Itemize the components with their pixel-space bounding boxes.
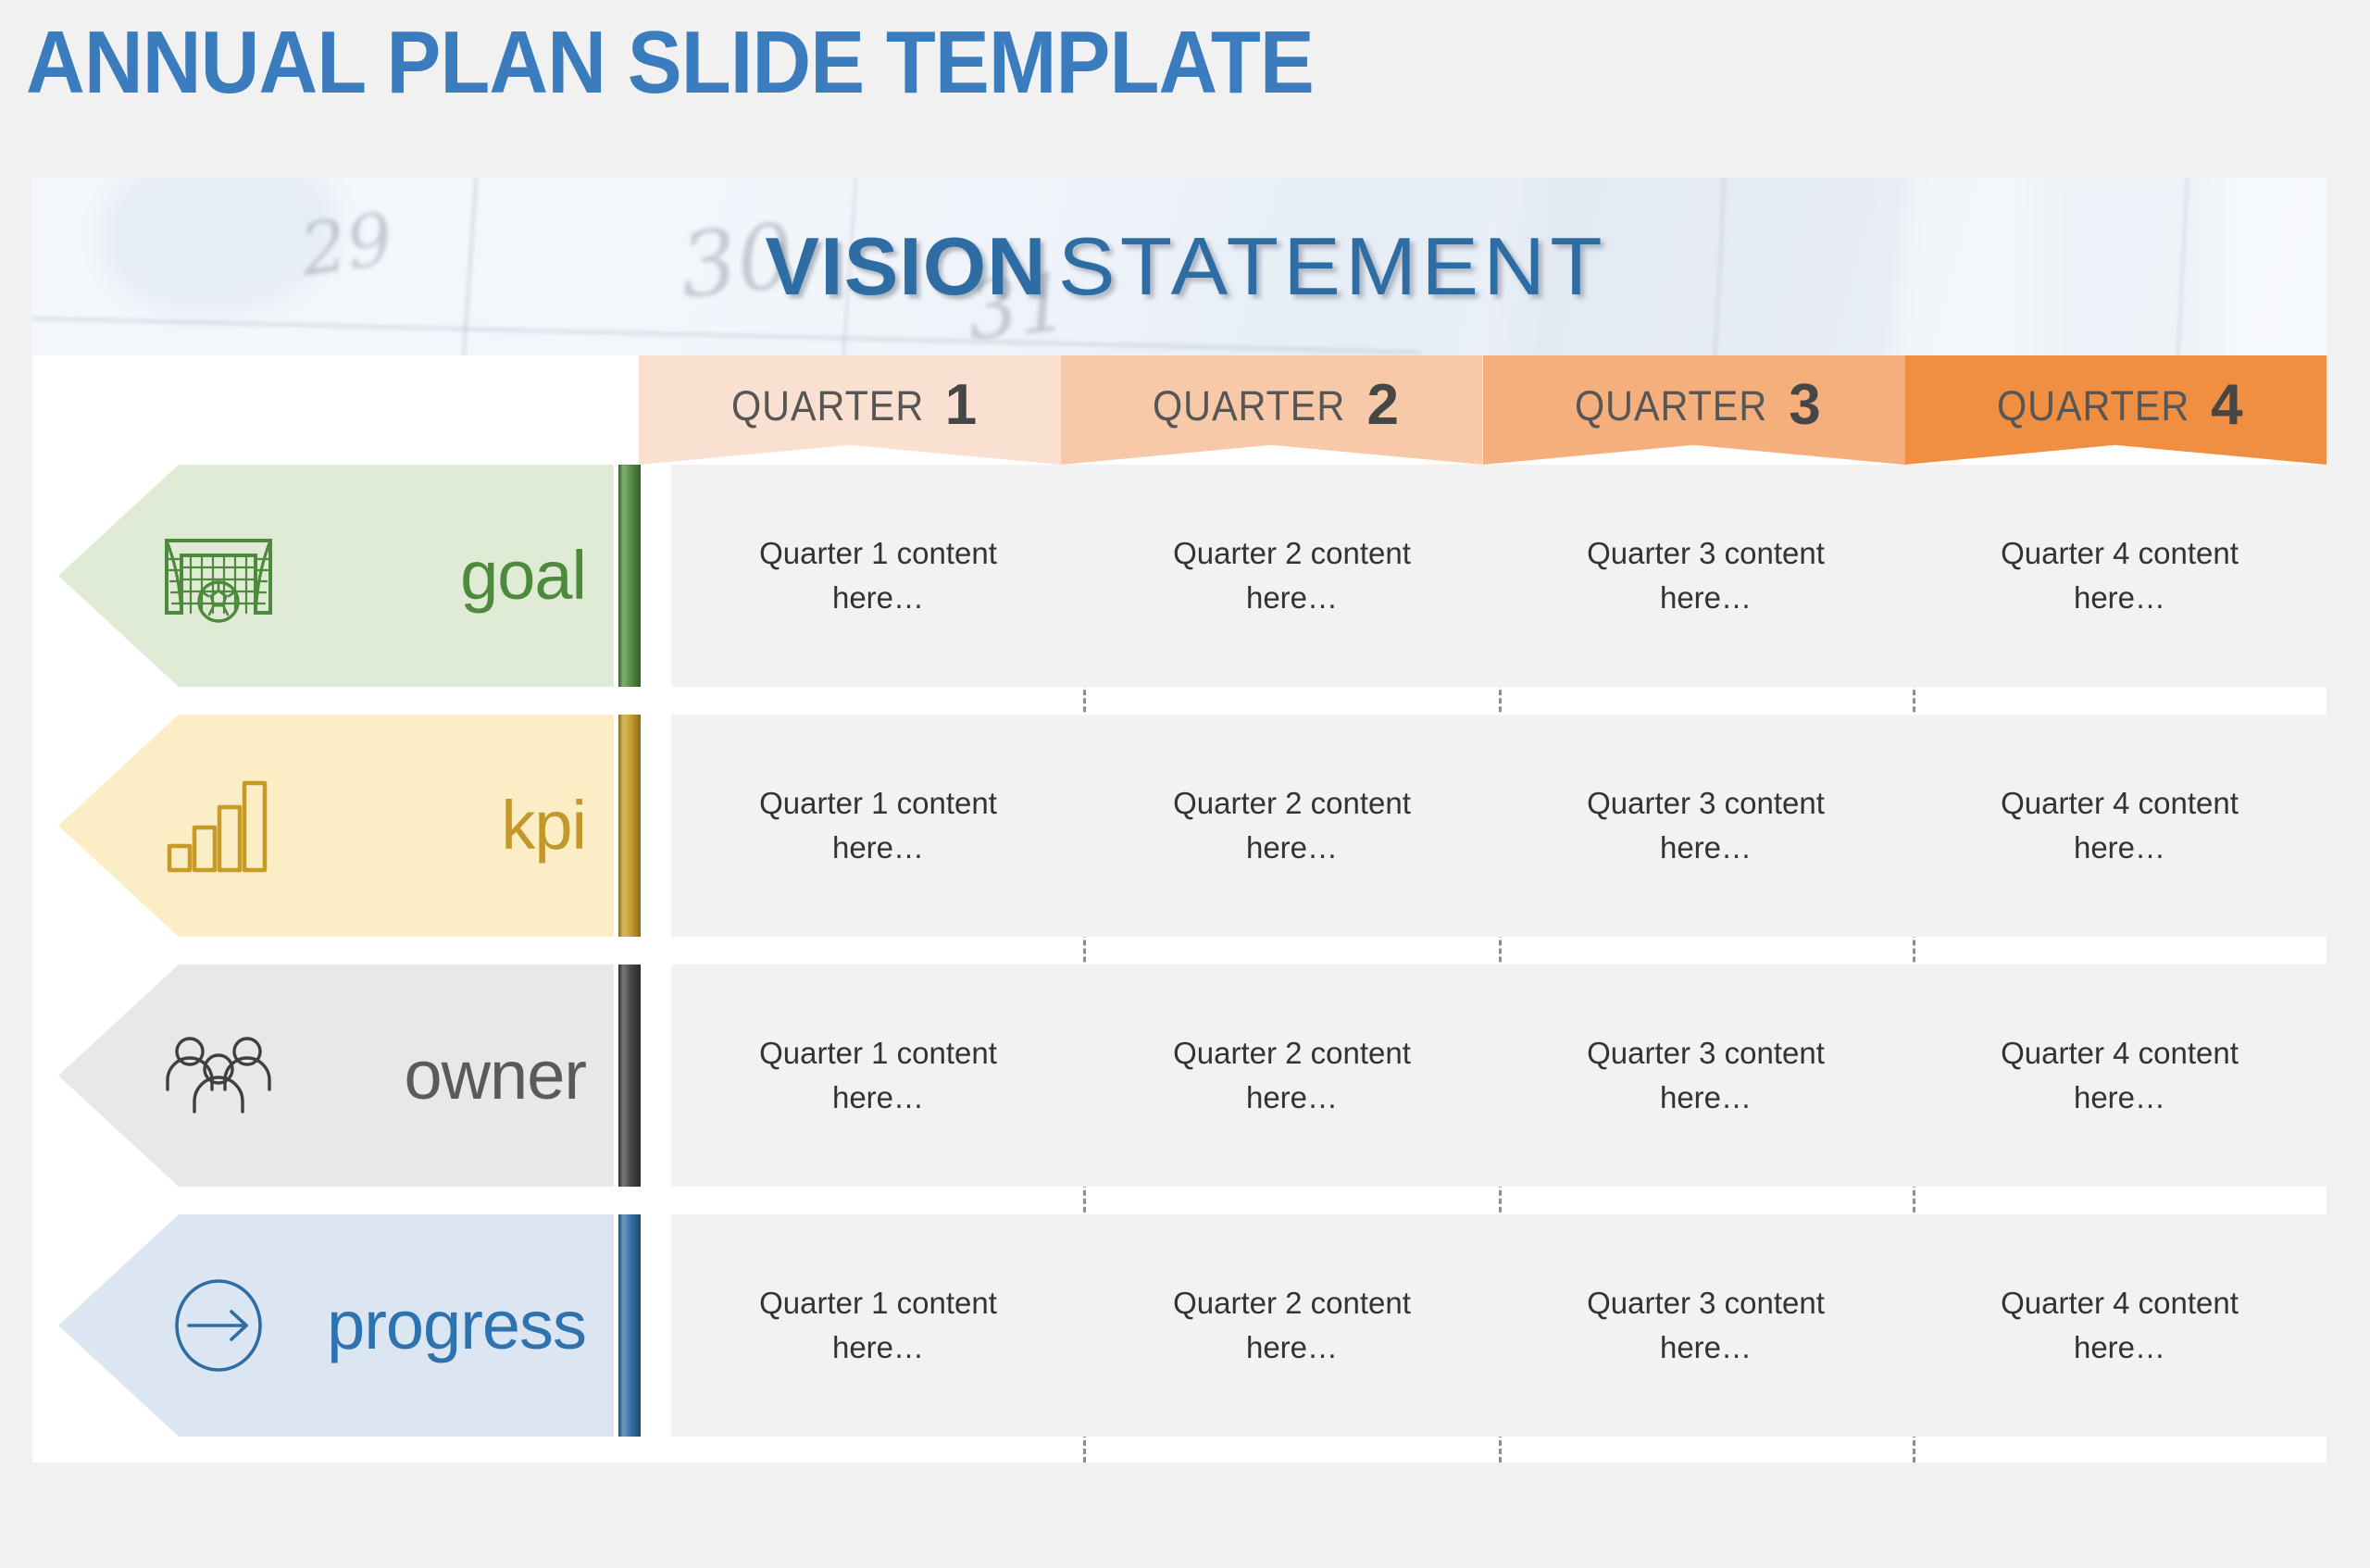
content-cell[interactable]: Quarter 1 content here… xyxy=(671,465,1085,687)
quarter-header-strip: QUARTER1QUARTER2QUARTER3QUARTER4 xyxy=(639,355,2326,465)
bar-chart-icon xyxy=(158,775,279,877)
people-group-icon xyxy=(158,1025,279,1126)
row-label-banner-goal[interactable]: goal xyxy=(58,465,614,687)
vision-word: VISION xyxy=(765,219,1046,314)
content-cell-text: Quarter 4 content here… xyxy=(1959,1281,2280,1370)
content-cell[interactable]: Quarter 2 content here… xyxy=(1085,1214,1499,1437)
content-cell-text: Quarter 2 content here… xyxy=(1131,781,1453,870)
content-cell[interactable]: Quarter 2 content here… xyxy=(1085,964,1499,1187)
statement-word: STATEMENT xyxy=(1058,219,1607,314)
content-cell[interactable]: Quarter 4 content here… xyxy=(1913,1214,2326,1437)
content-cell-text: Quarter 2 content here… xyxy=(1131,531,1453,620)
row-label-goal: goal xyxy=(460,541,586,610)
quarter-header-3[interactable]: QUARTER3 xyxy=(1483,355,1905,465)
row-accent-bar-progress xyxy=(618,1214,641,1437)
content-cell[interactable]: Quarter 4 content here… xyxy=(1913,465,2326,687)
quarter-header-number: 2 xyxy=(1366,372,1398,438)
slide-card: 29 30 31 VISION STATEMENT QUARTER1QUARTE… xyxy=(32,178,2326,1462)
row-label-owner: owner xyxy=(404,1041,586,1110)
content-cell-text: Quarter 1 content here… xyxy=(717,1031,1039,1120)
content-cell-text: Quarter 4 content here… xyxy=(1959,1031,2280,1120)
content-cell[interactable]: Quarter 3 content here… xyxy=(1499,964,1913,1187)
content-cell[interactable]: Quarter 3 content here… xyxy=(1499,1214,1913,1437)
content-cell-text: Quarter 2 content here… xyxy=(1131,1281,1453,1370)
content-cell-text: Quarter 2 content here… xyxy=(1131,1031,1453,1120)
content-cell-text: Quarter 1 content here… xyxy=(717,531,1039,620)
content-cell[interactable]: Quarter 2 content here… xyxy=(1085,715,1499,937)
content-cell[interactable]: Quarter 4 content here… xyxy=(1913,964,2326,1187)
plan-row-kpi: kpiQuarter 1 content here…Quarter 2 cont… xyxy=(32,715,2326,937)
vision-banner: 29 30 31 VISION STATEMENT xyxy=(32,178,2326,355)
row-accent-bar-owner xyxy=(618,964,641,1187)
row-accent-bar-kpi xyxy=(618,715,641,937)
content-cell-text: Quarter 3 content here… xyxy=(1545,781,1866,870)
quarter-header-1[interactable]: QUARTER1 xyxy=(639,355,1061,465)
quarter-header-2[interactable]: QUARTER2 xyxy=(1061,355,1483,465)
page-title: ANNUAL PLAN SLIDE TEMPLATE xyxy=(26,17,1314,110)
content-cell[interactable]: Quarter 3 content here… xyxy=(1499,715,1913,937)
vision-statement-heading: VISION STATEMENT xyxy=(32,178,2326,355)
row-label-banner-progress[interactable]: progress xyxy=(58,1214,614,1437)
row-cells: Quarter 1 content here…Quarter 2 content… xyxy=(671,465,2326,687)
quarter-header-label: QUARTER xyxy=(1575,382,1767,430)
plan-row-owner: ownerQuarter 1 content here…Quarter 2 co… xyxy=(32,964,2326,1187)
content-cell-text: Quarter 4 content here… xyxy=(1959,531,2280,620)
quarter-header-number: 1 xyxy=(945,372,977,438)
row-label-kpi: kpi xyxy=(501,791,586,860)
content-cell-text: Quarter 3 content here… xyxy=(1545,531,1866,620)
content-cell-text: Quarter 3 content here… xyxy=(1545,1281,1866,1370)
content-cell[interactable]: Quarter 3 content here… xyxy=(1499,465,1913,687)
content-cell[interactable]: Quarter 2 content here… xyxy=(1085,465,1499,687)
quarter-header-4[interactable]: QUARTER4 xyxy=(1904,355,2326,465)
content-cell-text: Quarter 1 content here… xyxy=(717,781,1039,870)
row-accent-bar-goal xyxy=(618,465,641,687)
content-cell[interactable]: Quarter 1 content here… xyxy=(671,715,1085,937)
quarter-header-label: QUARTER xyxy=(731,382,924,430)
row-label-banner-kpi[interactable]: kpi xyxy=(58,715,614,937)
content-cell[interactable]: Quarter 1 content here… xyxy=(671,1214,1085,1437)
plan-row-progress: progressQuarter 1 content here…Quarter 2… xyxy=(32,1214,2326,1437)
row-cells: Quarter 1 content here…Quarter 2 content… xyxy=(671,964,2326,1187)
row-label-progress: progress xyxy=(327,1291,586,1360)
content-cell[interactable]: Quarter 1 content here… xyxy=(671,964,1085,1187)
content-cell-text: Quarter 4 content here… xyxy=(1959,781,2280,870)
content-cell[interactable]: Quarter 4 content here… xyxy=(1913,715,2326,937)
soccer-goal-icon xyxy=(158,525,279,627)
content-cell-text: Quarter 3 content here… xyxy=(1545,1031,1866,1120)
plan-grid: goalQuarter 1 content here…Quarter 2 con… xyxy=(32,465,2326,1462)
quarter-header-label: QUARTER xyxy=(1153,382,1345,430)
row-cells: Quarter 1 content here…Quarter 2 content… xyxy=(671,1214,2326,1437)
row-cells: Quarter 1 content here…Quarter 2 content… xyxy=(671,715,2326,937)
quarter-header-number: 4 xyxy=(2211,372,2242,438)
quarter-header-number: 3 xyxy=(1789,372,1820,438)
row-label-banner-owner[interactable]: owner xyxy=(58,964,614,1187)
content-cell-text: Quarter 1 content here… xyxy=(717,1281,1039,1370)
circle-arrow-right-icon xyxy=(158,1275,279,1376)
plan-row-goal: goalQuarter 1 content here…Quarter 2 con… xyxy=(32,465,2326,687)
quarter-header-label: QUARTER xyxy=(1997,382,2189,430)
